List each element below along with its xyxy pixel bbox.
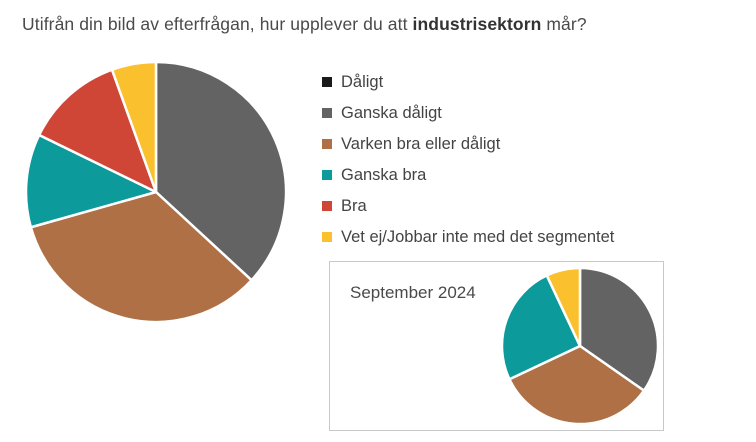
legend-item-label: Vet ej/Jobbar inte med det segmentet bbox=[341, 227, 614, 247]
inset-pie-chart bbox=[500, 266, 660, 426]
main-pie-svg bbox=[24, 60, 288, 324]
title-emphasis: industrisektorn bbox=[413, 14, 542, 34]
legend-item-label: Dåligt bbox=[341, 72, 383, 92]
legend: DåligtGanska dåligtVarken bra eller dåli… bbox=[322, 66, 742, 252]
legend-item[interactable]: Bra bbox=[322, 190, 742, 221]
legend-item-label: Varken bra eller dåligt bbox=[341, 134, 500, 154]
legend-item-label: Bra bbox=[341, 196, 367, 216]
legend-swatch-icon bbox=[322, 139, 332, 149]
legend-swatch-icon bbox=[322, 232, 332, 242]
inset-panel: September 2024 bbox=[329, 261, 664, 431]
legend-item-label: Ganska bra bbox=[341, 165, 426, 185]
legend-swatch-icon bbox=[322, 201, 332, 211]
legend-swatch-icon bbox=[322, 170, 332, 180]
legend-item-label: Ganska dåligt bbox=[341, 103, 442, 123]
title-lead: Utifrån din bild av efterfrågan, hur upp… bbox=[22, 14, 413, 34]
legend-item[interactable]: Vet ej/Jobbar inte med det segmentet bbox=[322, 221, 742, 252]
legend-item[interactable]: Ganska dåligt bbox=[322, 97, 742, 128]
main-pie-chart bbox=[24, 60, 288, 324]
page-title: Utifrån din bild av efterfrågan, hur upp… bbox=[22, 12, 742, 36]
legend-swatch-icon bbox=[322, 108, 332, 118]
legend-item[interactable]: Varken bra eller dåligt bbox=[322, 128, 742, 159]
chart-canvas: Utifrån din bild av efterfrågan, hur upp… bbox=[0, 0, 756, 442]
legend-item[interactable]: Dåligt bbox=[322, 66, 742, 97]
inset-pie-svg bbox=[500, 266, 660, 426]
legend-item[interactable]: Ganska bra bbox=[322, 159, 742, 190]
title-tail: mår? bbox=[541, 14, 586, 34]
inset-title: September 2024 bbox=[350, 282, 476, 304]
legend-swatch-icon bbox=[322, 77, 332, 87]
